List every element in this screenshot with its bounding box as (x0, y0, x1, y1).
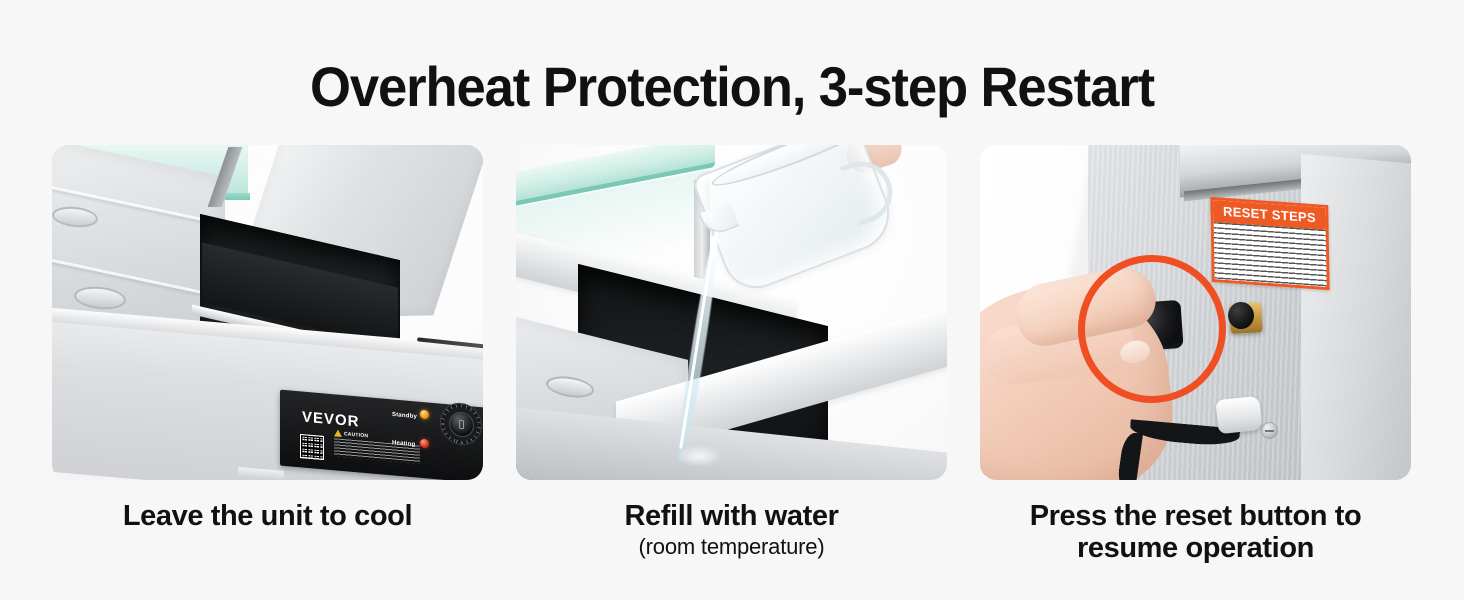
knob-indicator-icon (459, 420, 464, 429)
qr-code-icon (300, 434, 324, 460)
step-3-caption: Press the reset button to resume operati… (980, 500, 1411, 590)
reset-steps-instructions (1214, 222, 1327, 288)
step-1-image: VEVOR CAUTION Standby Heating (52, 145, 483, 480)
step-1-caption: Leave the unit to cool (52, 500, 483, 590)
heating-led-icon (420, 439, 429, 449)
caution-label: CAUTION (344, 431, 368, 439)
warning-triangle-icon (334, 429, 342, 437)
page-title: Overheat Protection, 3-step Restart (44, 54, 1420, 119)
standby-led-icon (420, 410, 429, 420)
step-2-caption-main: Refill with water (516, 500, 947, 532)
step-3-image: RESET STEPS (980, 145, 1411, 480)
stainless-right-wall (1301, 154, 1411, 480)
cord-strain-relief (1215, 396, 1262, 434)
reset-steps-label: RESET STEPS (1210, 197, 1329, 290)
step-1-caption-main: Leave the unit to cool (52, 500, 483, 532)
screw-icon (1261, 422, 1278, 439)
step-images-row: VEVOR CAUTION Standby Heating (52, 145, 1412, 480)
step-2-caption-sub: (room temperature) (516, 533, 947, 561)
water-splash (676, 445, 722, 467)
step-captions-row: Leave the unit to cool Refill with water… (52, 500, 1412, 590)
reset-button-highlight-circle (1078, 255, 1226, 403)
step-3-caption-main: Press the reset button to resume operati… (980, 500, 1411, 565)
step-2-image (516, 145, 947, 480)
step-2-caption: Refill with water (room temperature) (516, 500, 947, 590)
